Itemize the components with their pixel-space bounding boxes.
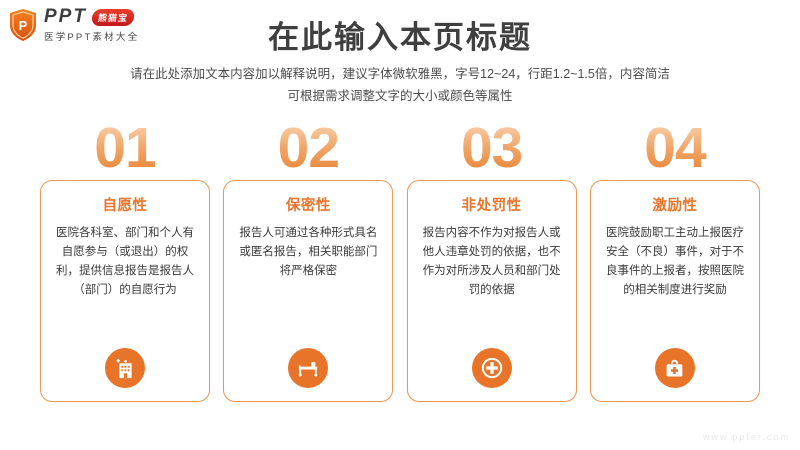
footer-watermark: www.ppter.com bbox=[703, 432, 790, 442]
card-number: 04 bbox=[590, 120, 760, 177]
card-title: 保密性 bbox=[224, 194, 392, 215]
subtitle-line-2: 可根据需求调整文字的大小或颜色等属性 bbox=[0, 86, 800, 108]
card-box[interactable]: 非处罚性 报告内容不作为对报告人或他人违章处罚的依据，也不作为对所涉及人员和部门… bbox=[407, 180, 577, 402]
cards-container: 01 自愿性 医院各科室、部门和个人有自愿参与（或退出）的权利，提供信息报告是报… bbox=[40, 122, 760, 412]
card-number: 02 bbox=[223, 120, 393, 177]
hospital-bed-icon bbox=[288, 348, 328, 388]
medical-cross-circle-icon bbox=[472, 348, 512, 388]
card-2[interactable]: 02 保密性 报告人可通过各种形式具名或匿名报告，相关职能部门将严格保密 bbox=[223, 122, 393, 412]
page-title: 在此输入本页标题 bbox=[0, 12, 800, 57]
card-number: 03 bbox=[407, 120, 577, 177]
card-title: 自愿性 bbox=[41, 194, 209, 215]
card-number: 01 bbox=[40, 120, 210, 177]
card-body: 医院鼓励职工主动上报医疗安全（不良）事件，对于不良事件的上报者，按照医院的相关制… bbox=[605, 224, 745, 300]
card-1[interactable]: 01 自愿性 医院各科室、部门和个人有自愿参与（或退出）的权利，提供信息报告是报… bbox=[40, 122, 210, 412]
card-4[interactable]: 04 激励性 医院鼓励职工主动上报医疗安全（不良）事件，对于不良事件的上报者，按… bbox=[590, 122, 760, 412]
card-body: 报告内容不作为对报告人或他人违章处罚的依据，也不作为对所涉及人员和部门处罚的依据 bbox=[422, 224, 562, 300]
card-3[interactable]: 03 非处罚性 报告内容不作为对报告人或他人违章处罚的依据，也不作为对所涉及人员… bbox=[407, 122, 577, 412]
card-body: 报告人可通过各种形式具名或匿名报告，相关职能部门将严格保密 bbox=[238, 224, 378, 281]
card-box[interactable]: 自愿性 医院各科室、部门和个人有自愿参与（或退出）的权利，提供信息报告是报告人（… bbox=[40, 180, 210, 402]
card-title: 非处罚性 bbox=[408, 194, 576, 215]
subtitle-line-1: 请在此处添加文本内容加以解释说明，建议字体微软雅黑，字号12~24，行距1.2~… bbox=[0, 64, 800, 86]
first-aid-kit-icon bbox=[655, 348, 695, 388]
page-subtitle: 请在此处添加文本内容加以解释说明，建议字体微软雅黑，字号12~24，行距1.2~… bbox=[0, 64, 800, 108]
hospital-building-icon bbox=[105, 348, 145, 388]
card-box[interactable]: 保密性 报告人可通过各种形式具名或匿名报告，相关职能部门将严格保密 bbox=[223, 180, 393, 402]
card-body: 医院各科室、部门和个人有自愿参与（或退出）的权利，提供信息报告是报告人（部门）的… bbox=[55, 224, 195, 300]
card-box[interactable]: 激励性 医院鼓励职工主动上报医疗安全（不良）事件，对于不良事件的上报者，按照医院… bbox=[590, 180, 760, 402]
card-title: 激励性 bbox=[591, 194, 759, 215]
